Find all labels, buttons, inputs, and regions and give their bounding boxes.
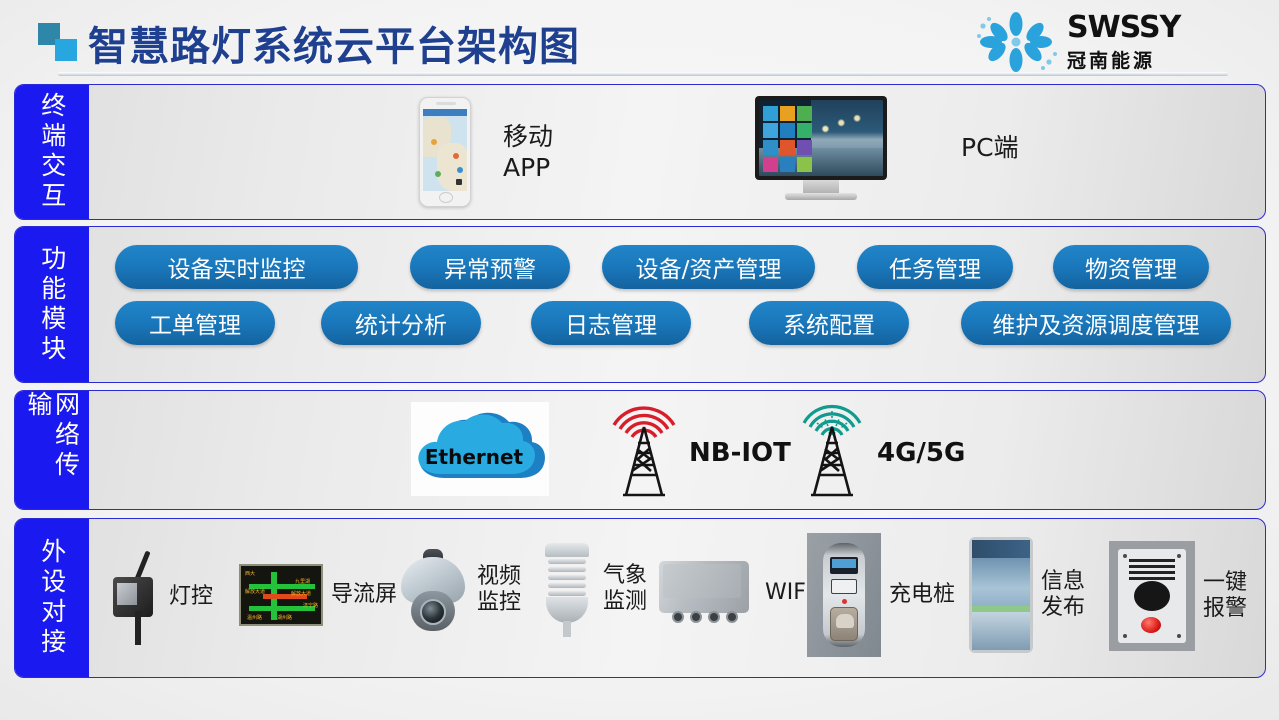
wifi-enclosure-icon (659, 561, 749, 625)
peripheral-item-wifi[interactable]: WIFI (659, 561, 812, 625)
terminal-item-label: 移动 APP (503, 121, 553, 184)
peripheral-item-label: 一键 报警 (1203, 570, 1247, 623)
peripheral-item-label: 视频 监控 (477, 564, 521, 617)
function-pill-material-management[interactable]: 物资管理 (1053, 245, 1209, 289)
section-label-function: 功能模块 (15, 227, 89, 382)
function-pill-work-order[interactable]: 工单管理 (115, 301, 275, 345)
section-label-peripheral-text: 外设对接 (38, 538, 66, 658)
cloud-icon: Ethernet (411, 402, 549, 496)
function-pill-row-2: 工单管理 统计分析 日志管理 系统配置 维护及资源调度管理 (115, 301, 1249, 345)
function-pill-statistics[interactable]: 统计分析 (321, 301, 481, 345)
peripheral-item-charging-pile[interactable]: 充电桩 (807, 533, 955, 657)
section-peripheral-integration: 外设对接 灯控 西大 九里湖 (14, 518, 1266, 678)
antenna-tower-icon (789, 401, 875, 504)
function-pill-task-management[interactable]: 任务管理 (857, 245, 1013, 289)
peripheral-item-label: 信息 发布 (1041, 569, 1085, 622)
function-pill-maintenance-dispatch[interactable]: 维护及资源调度管理 (961, 301, 1231, 345)
section-label-network: 网络传输 (15, 391, 89, 509)
section-network-transmission: 网络传输 Ethernet (14, 390, 1266, 510)
function-pill-device-monitor[interactable]: 设备实时监控 (115, 245, 358, 289)
network-item-4g5g[interactable]: 4G/5G (789, 401, 965, 504)
peripheral-item-label: WIFI (765, 580, 812, 606)
brand-subtitle: 冠南能源 (1067, 46, 1180, 73)
water-droplet-petals-icon (971, 10, 1061, 74)
terminal-item-pc[interactable]: PC端 (755, 96, 1019, 200)
network-item-label: 4G/5G (877, 438, 965, 468)
function-pill-log-management[interactable]: 日志管理 (531, 301, 691, 345)
function-row-body: 设备实时监控 异常预警 设备/资产管理 任务管理 物资管理 工单管理 统计分析 … (89, 227, 1265, 382)
section-terminal-interaction: 终端交互 移动 APP (14, 84, 1266, 220)
terminal-item-mobile-app[interactable]: 移动 APP (419, 97, 553, 207)
charging-pile-icon (807, 533, 881, 657)
info-display-icon (969, 537, 1033, 653)
network-row-body: Ethernet (89, 391, 1265, 509)
brand-name: SWSSY (1067, 10, 1180, 45)
peripheral-item-guidance-screen[interactable]: 西大 九里湖 解放大道 解放大道 温州路 湖州路 济宁路 导流屏 (239, 564, 397, 626)
section-label-function-text: 功能模块 (38, 245, 66, 365)
section-label-peripheral: 外设对接 (15, 519, 89, 677)
peripheral-item-emergency-call[interactable]: 一键 报警 (1109, 541, 1247, 651)
two-squares-icon (38, 23, 84, 61)
peripheral-item-lamp-controller[interactable]: 灯控 (107, 549, 213, 645)
network-item-label: NB-IOT (689, 438, 791, 468)
peripheral-item-video-camera[interactable]: 视频 监控 (399, 547, 521, 633)
peripheral-item-label: 导流屏 (331, 582, 397, 608)
function-pill-asset-management[interactable]: 设备/资产管理 (602, 245, 815, 289)
peripheral-row-body: 灯控 西大 九里湖 解放大道 解放大道 温州路 湖州路 济宁路 导流屏 (89, 519, 1265, 677)
weather-sensor-icon (539, 541, 595, 637)
emergency-call-icon (1109, 541, 1195, 651)
function-pill-abnormal-alert[interactable]: 异常预警 (410, 245, 570, 289)
peripheral-item-weather-sensor[interactable]: 气象 监测 (539, 541, 647, 637)
section-function-modules: 功能模块 设备实时监控 异常预警 设备/资产管理 任务管理 物资管理 工单管理 … (14, 226, 1266, 383)
peripheral-item-info-display[interactable]: 信息 发布 (969, 537, 1085, 653)
network-item-nbiot[interactable]: NB-IOT (601, 401, 791, 504)
page-title: 智慧路灯系统云平台架构图 (88, 14, 580, 72)
lamp-controller-icon (107, 549, 161, 645)
section-label-terminal-text: 终端交互 (38, 92, 66, 212)
peripheral-item-label: 充电桩 (889, 582, 955, 608)
antenna-tower-icon (601, 401, 687, 504)
function-pill-system-config[interactable]: 系统配置 (749, 301, 909, 345)
terminal-item-label: PC端 (961, 132, 1019, 163)
brand-logo: SWSSY 冠南能源 (971, 8, 1221, 76)
terminal-row-body: 移动 APP (89, 85, 1265, 219)
guidance-screen-icon: 西大 九里湖 解放大道 解放大道 温州路 湖州路 济宁路 (239, 564, 323, 626)
page-header: 智慧路灯系统云平台架构图 (0, 0, 1279, 78)
svg-text:Ethernet: Ethernet (425, 445, 524, 469)
desktop-monitor-icon (755, 96, 887, 200)
function-pill-row-1: 设备实时监控 异常预警 设备/资产管理 任务管理 物资管理 (115, 245, 1249, 289)
section-label-terminal: 终端交互 (15, 85, 89, 219)
section-label-network-text: 网络传输 (25, 391, 80, 509)
header-divider (58, 72, 1228, 76)
ptz-camera-icon (399, 547, 469, 633)
smartphone-map-icon (419, 97, 471, 207)
peripheral-item-label: 灯控 (169, 584, 213, 610)
network-item-ethernet[interactable]: Ethernet (411, 402, 549, 496)
peripheral-item-label: 气象 监测 (603, 563, 647, 616)
